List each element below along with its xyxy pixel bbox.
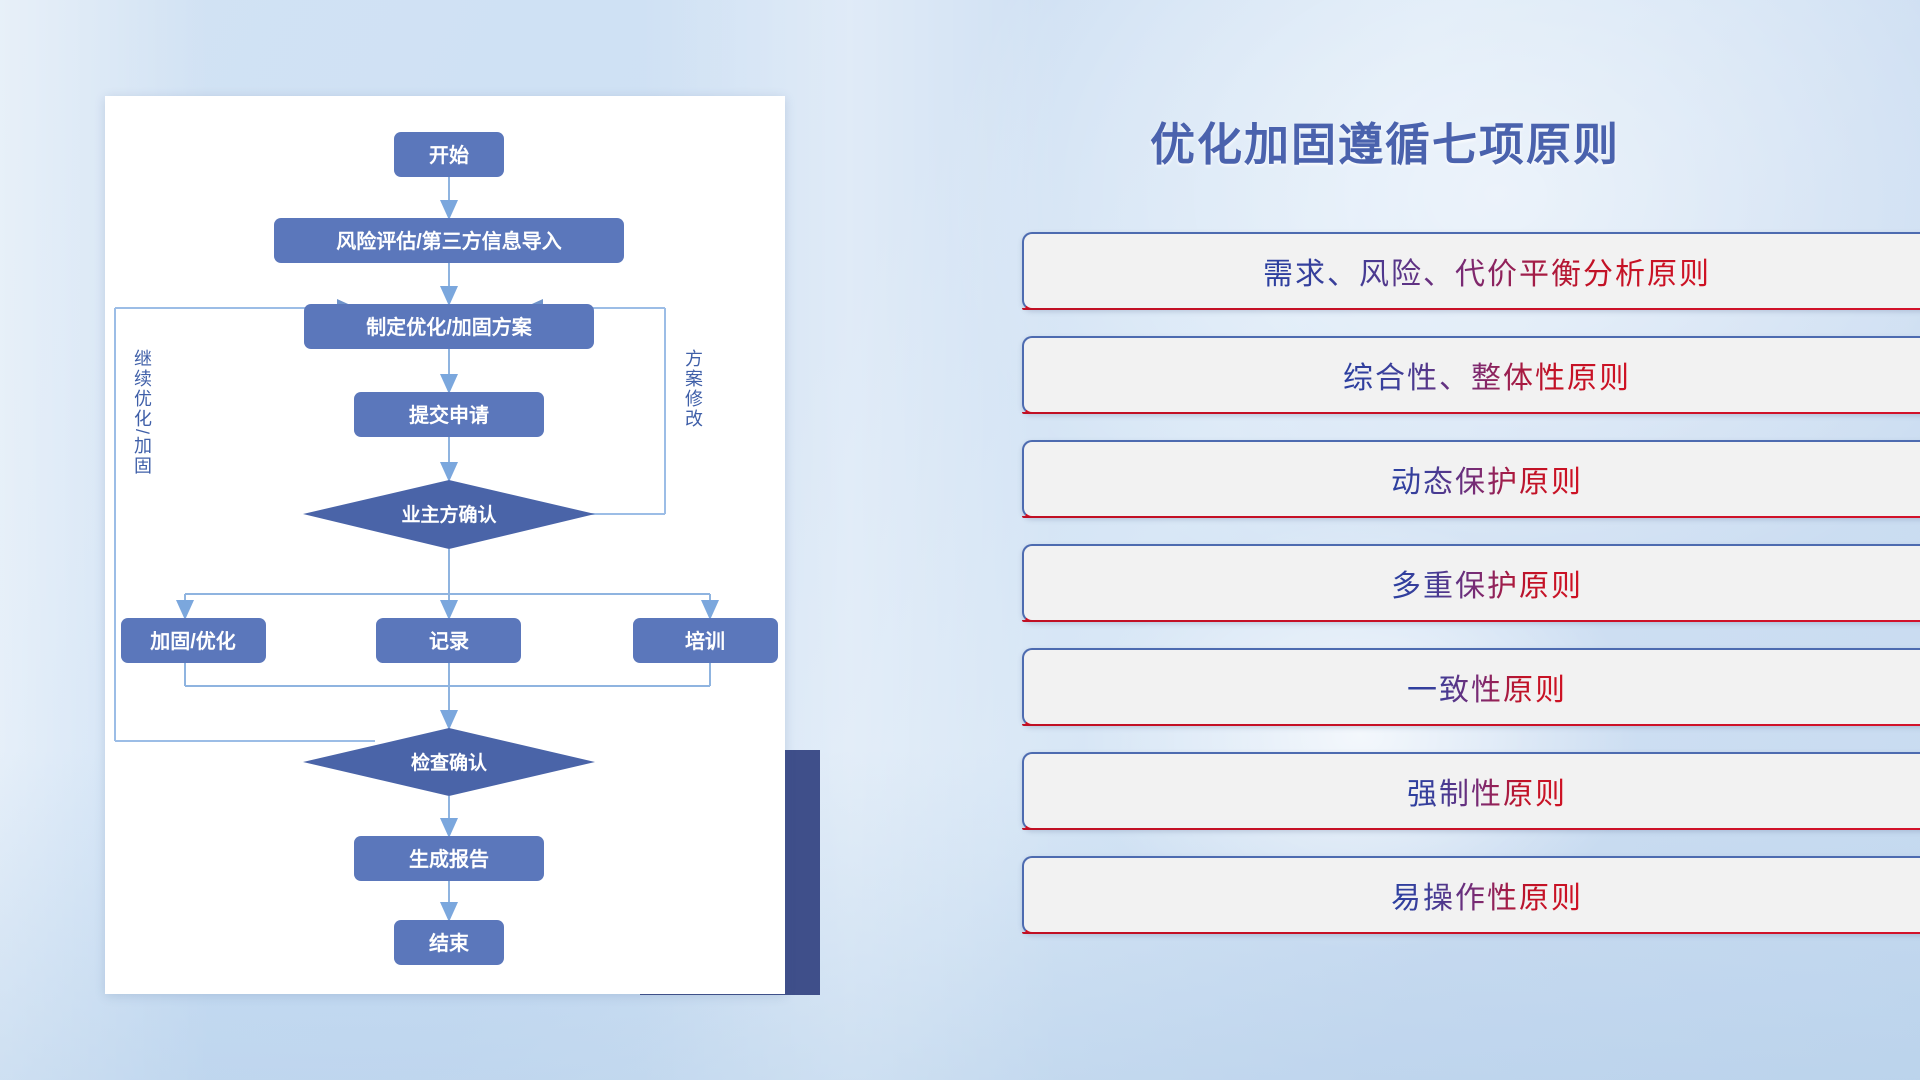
principle-card-6[interactable]: 强制性原则 — [1022, 752, 1920, 830]
flow-edge-label-right-loop: 方案修改 — [683, 349, 703, 429]
flow-node-reinforce-label: 加固/优化 — [149, 629, 236, 653]
principle-card-1[interactable]: 需求、风险、代价平衡分析原则 — [1022, 232, 1920, 310]
flow-node-training-label: 培训 — [685, 629, 725, 653]
flow-node-risk-assessment-label: 风险评估/第三方信息导入 — [336, 229, 562, 253]
flow-node-risk-assessment[interactable]: 风险评估/第三方信息导入 — [274, 218, 624, 263]
flow-node-reinforce[interactable]: 加固/优化 — [121, 618, 266, 663]
flow-node-submit[interactable]: 提交申请 — [354, 392, 544, 437]
flow-node-check-confirm[interactable]: 检查确认 — [303, 728, 595, 796]
flow-node-record-label: 记录 — [429, 630, 469, 653]
flow-node-check-confirm-label: 检查确认 — [411, 751, 487, 774]
principle-label: 综合性、整体性原则 — [1343, 353, 1631, 397]
page-title: 优化加固遵循七项原则 — [1150, 108, 1770, 173]
principle-label: 易操作性原则 — [1391, 873, 1583, 917]
principle-card-7[interactable]: 易操作性原则 — [1022, 856, 1920, 934]
flow-node-start[interactable]: 开始 — [394, 132, 504, 177]
flow-node-end[interactable]: 结束 — [394, 920, 504, 965]
flowchart-card: 开始 风险评估/第三方信息导入 制定优化/加固方案 提交申请 业主方确认 加固/… — [105, 96, 785, 994]
principle-label: 一致性原则 — [1407, 665, 1567, 709]
principle-list: 需求、风险、代价平衡分析原则 综合性、整体性原则 动态保护原则 多重保护原则 一… — [1022, 232, 1920, 960]
flow-edge-label-left-loop: 继续优化/加固 — [132, 349, 152, 476]
principle-card-4[interactable]: 多重保护原则 — [1022, 544, 1920, 622]
principle-card-2[interactable]: 综合性、整体性原则 — [1022, 336, 1920, 414]
principle-label: 多重保护原则 — [1391, 561, 1583, 605]
principle-card-3[interactable]: 动态保护原则 — [1022, 440, 1920, 518]
principle-label: 强制性原则 — [1407, 769, 1567, 813]
flow-node-owner-confirm-label: 业主方确认 — [401, 503, 496, 526]
flow-node-report-label: 生成报告 — [409, 847, 489, 871]
flow-node-training[interactable]: 培训 — [633, 618, 778, 663]
flow-node-submit-label: 提交申请 — [409, 403, 489, 427]
flow-node-plan[interactable]: 制定优化/加固方案 — [304, 304, 594, 349]
flow-node-report[interactable]: 生成报告 — [354, 836, 544, 881]
principle-label: 需求、风险、代价平衡分析原则 — [1263, 249, 1711, 293]
flow-node-plan-label: 制定优化/加固方案 — [366, 315, 533, 339]
principle-card-5[interactable]: 一致性原则 — [1022, 648, 1920, 726]
flow-node-start-label: 开始 — [429, 143, 469, 167]
flow-node-owner-confirm[interactable]: 业主方确认 — [303, 480, 595, 549]
flow-node-end-label: 结束 — [429, 931, 470, 955]
flow-node-record[interactable]: 记录 — [376, 618, 521, 663]
flowchart-diagram: 开始 风险评估/第三方信息导入 制定优化/加固方案 提交申请 业主方确认 加固/… — [105, 96, 785, 994]
principle-label: 动态保护原则 — [1391, 457, 1583, 501]
